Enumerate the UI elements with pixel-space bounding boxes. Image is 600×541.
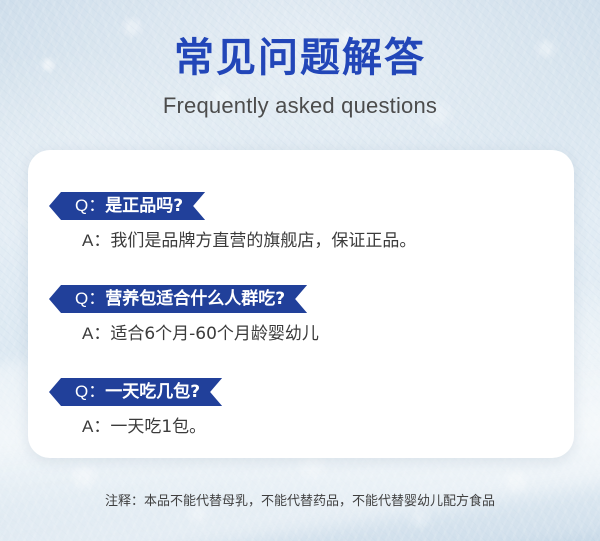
answer-line: A：适合6个月-60个月龄婴幼儿 [40, 322, 574, 346]
answer-text: 一天吃1包。 [110, 417, 206, 437]
answer-marker: A： [82, 324, 110, 343]
answer-line: A：我们是品牌方直营的旗舰店，保证正品。 [40, 229, 574, 253]
page-title: 常见问题解答 [0, 0, 600, 83]
answer-text: 我们是品牌方直营的旗舰店，保证正品。 [110, 231, 416, 251]
question-badge[interactable]: Q：一天吃几包? [49, 378, 222, 406]
answer-text: 适合6个月-60个月龄婴幼儿 [110, 324, 319, 344]
faq-card: Q：是正品吗? A：我们是品牌方直营的旗舰店，保证正品。 Q：营养包适合什么人群… [28, 150, 574, 458]
question-marker: Q： [75, 289, 105, 308]
answer-marker: A： [82, 417, 110, 436]
faq-item: Q：营养包适合什么人群吃? A：适合6个月-60个月龄婴幼儿 [40, 285, 574, 346]
question-badge[interactable]: Q：是正品吗? [49, 192, 205, 220]
question-badge[interactable]: Q：营养包适合什么人群吃? [49, 285, 307, 313]
answer-line: A：一天吃1包。 [40, 415, 574, 439]
question-text: 营养包适合什么人群吃? [105, 289, 285, 309]
answer-marker: A： [82, 231, 110, 250]
question-marker: Q： [75, 382, 105, 401]
question-text: 是正品吗? [105, 196, 183, 216]
question-text: 一天吃几包? [105, 382, 200, 402]
page-header: 常见问题解答 Frequently asked questions [0, 0, 600, 120]
page-subtitle: Frequently asked questions [0, 83, 600, 120]
footnote: 注释：本品不能代替母乳，不能代替药品，不能代替婴幼儿配方食品 [0, 492, 600, 512]
faq-page: 常见问题解答 Frequently asked questions Q：是正品吗… [0, 0, 600, 541]
faq-item: Q：一天吃几包? A：一天吃1包。 [40, 378, 574, 439]
question-marker: Q： [75, 196, 105, 215]
faq-list: Q：是正品吗? A：我们是品牌方直营的旗舰店，保证正品。 Q：营养包适合什么人群… [40, 192, 574, 439]
faq-item: Q：是正品吗? A：我们是品牌方直营的旗舰店，保证正品。 [40, 192, 574, 253]
